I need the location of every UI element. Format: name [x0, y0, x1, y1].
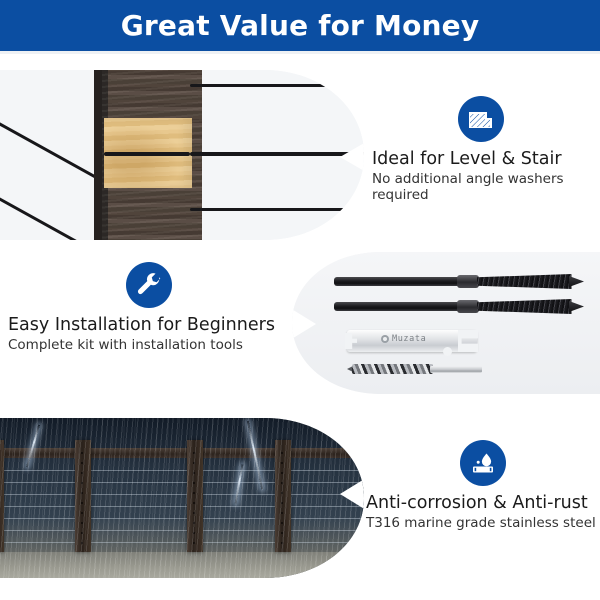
feature-subtitle-line1: No additional angle washers	[372, 171, 564, 187]
cable-line	[190, 208, 364, 211]
page-title: Great Value for Money	[121, 9, 480, 42]
lag-screw-thread	[477, 299, 572, 314]
water-drop-icon	[460, 440, 506, 486]
header-banner: Great Value for Money	[0, 0, 600, 51]
lag-screw-collar	[457, 275, 480, 288]
cable-line	[190, 84, 364, 87]
feature-level-stair: Ideal for Level & Stair No additional an…	[372, 96, 594, 204]
lag-screw-tip	[569, 301, 584, 312]
feature-subtitle-line2: required	[372, 187, 429, 203]
feature-subtitle: No additional angle washers required	[372, 172, 594, 204]
rain-overlay	[0, 418, 364, 578]
feature-title: Ideal for Level & Stair	[372, 149, 594, 169]
feature-easy-installation: Easy Installation for Beginners Complete…	[8, 262, 294, 354]
drill-bit-flute	[352, 364, 433, 374]
wrench-icon	[126, 262, 172, 308]
wrench-hook-notch	[345, 333, 357, 349]
panel-cable-post-illustration	[0, 68, 364, 242]
illustration-canvas	[0, 68, 364, 242]
brand-name: Muzata	[392, 334, 426, 344]
lag-screw-shank	[334, 302, 464, 311]
panel-hardware-kit: Muzata	[292, 250, 600, 396]
feature-subtitle: Complete kit with installation tools	[8, 338, 294, 354]
hardware-background	[292, 250, 600, 396]
feature-subtitle: T316 marine grade stainless steel	[366, 516, 598, 532]
lag-screw-collar	[457, 300, 480, 313]
drill-bit-shaft	[430, 366, 482, 373]
brand-label: Muzata	[381, 334, 426, 344]
panel-storm-railing	[0, 418, 364, 578]
lag-screw	[334, 299, 584, 314]
drill-bit	[352, 364, 482, 374]
cable-line	[190, 152, 364, 156]
lag-screw-thread	[477, 274, 572, 289]
muzata-wrench-tool: Muzata	[347, 330, 477, 352]
header-divider	[0, 51, 600, 54]
lag-screw-tip	[569, 276, 584, 287]
wrench-fork	[458, 330, 478, 352]
lag-screw-shank	[334, 277, 464, 286]
wrench-hole	[443, 347, 452, 356]
feature-title: Easy Installation for Beginners	[8, 315, 294, 335]
stair-slope-icon	[458, 96, 504, 142]
muzata-logo-icon	[381, 335, 389, 343]
feature-title: Anti-corrosion & Anti-rust	[366, 493, 598, 513]
feature-anti-corrosion: Anti-corrosion & Anti-rust T316 marine g…	[366, 440, 598, 532]
lag-screw-line	[104, 152, 190, 156]
infographic-root: Great Value for Money	[0, 0, 600, 600]
lag-screw	[334, 274, 584, 289]
